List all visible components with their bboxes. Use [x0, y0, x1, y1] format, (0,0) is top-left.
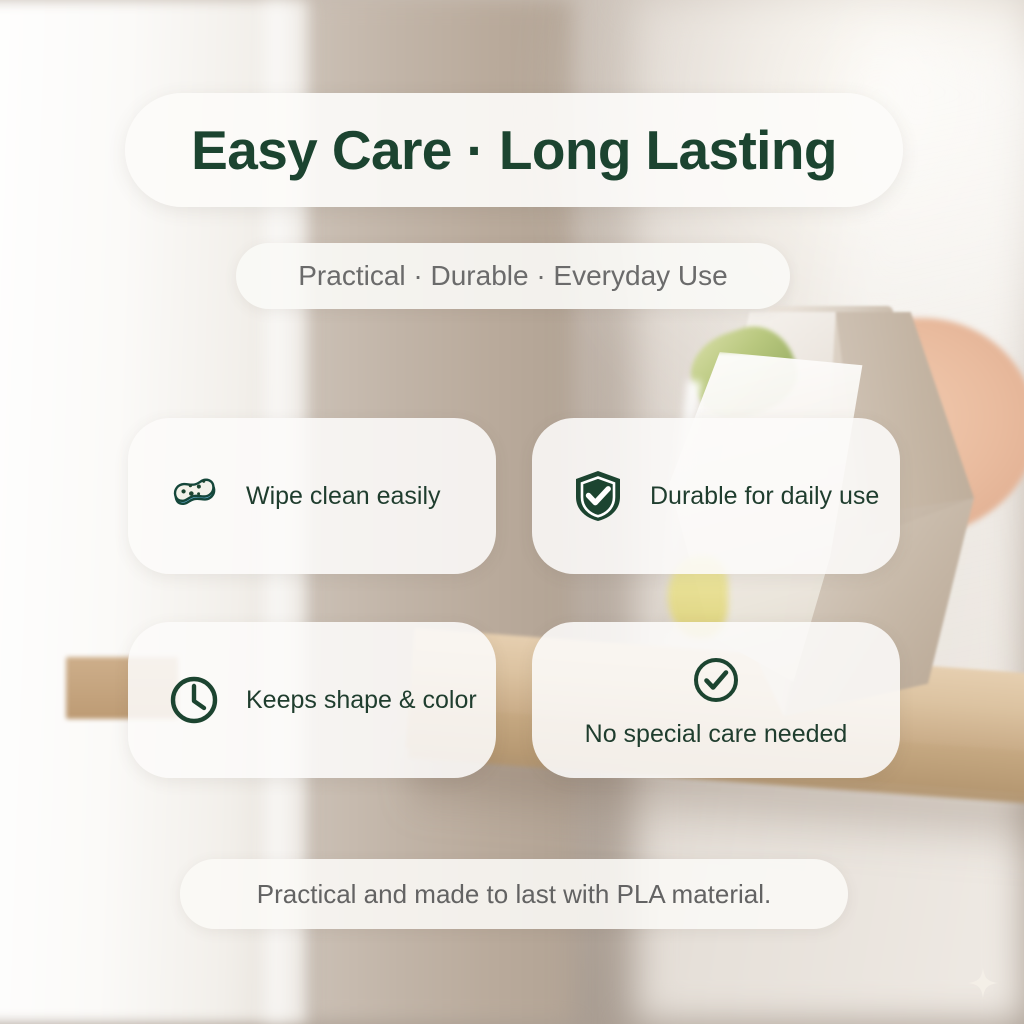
subtitle-pill: Practical · Durable · Everyday Use	[236, 243, 790, 309]
footer-text: Practical and made to last with PLA mate…	[257, 879, 771, 910]
feature-card-durable[interactable]: Durable for daily use	[532, 418, 900, 574]
title-pill: Easy Care · Long Lasting	[125, 93, 903, 207]
feature-card-keeps-shape[interactable]: Keeps shape & color	[128, 622, 496, 778]
feature-label-durable: Durable for daily use	[650, 482, 879, 511]
feature-card-no-special-care[interactable]: No special care needed	[532, 622, 900, 778]
sponge-icon	[166, 468, 222, 524]
feature-card-wipe-clean[interactable]: Wipe clean easily	[128, 418, 496, 574]
shield-check-icon	[570, 468, 626, 524]
content-overlay: Easy Care · Long Lasting Practical · Dur…	[0, 0, 1024, 1024]
sparkle-icon	[968, 968, 998, 998]
page-title: Easy Care · Long Lasting	[191, 118, 837, 182]
clock-icon	[166, 672, 222, 728]
feature-label-no-special-care: No special care needed	[585, 720, 848, 749]
feature-label-keeps-shape: Keeps shape & color	[246, 686, 477, 715]
page-subtitle: Practical · Durable · Everyday Use	[298, 260, 727, 292]
feature-label-wipe-clean: Wipe clean easily	[246, 482, 441, 511]
footer-pill: Practical and made to last with PLA mate…	[180, 859, 848, 929]
check-circle-icon	[688, 652, 744, 708]
